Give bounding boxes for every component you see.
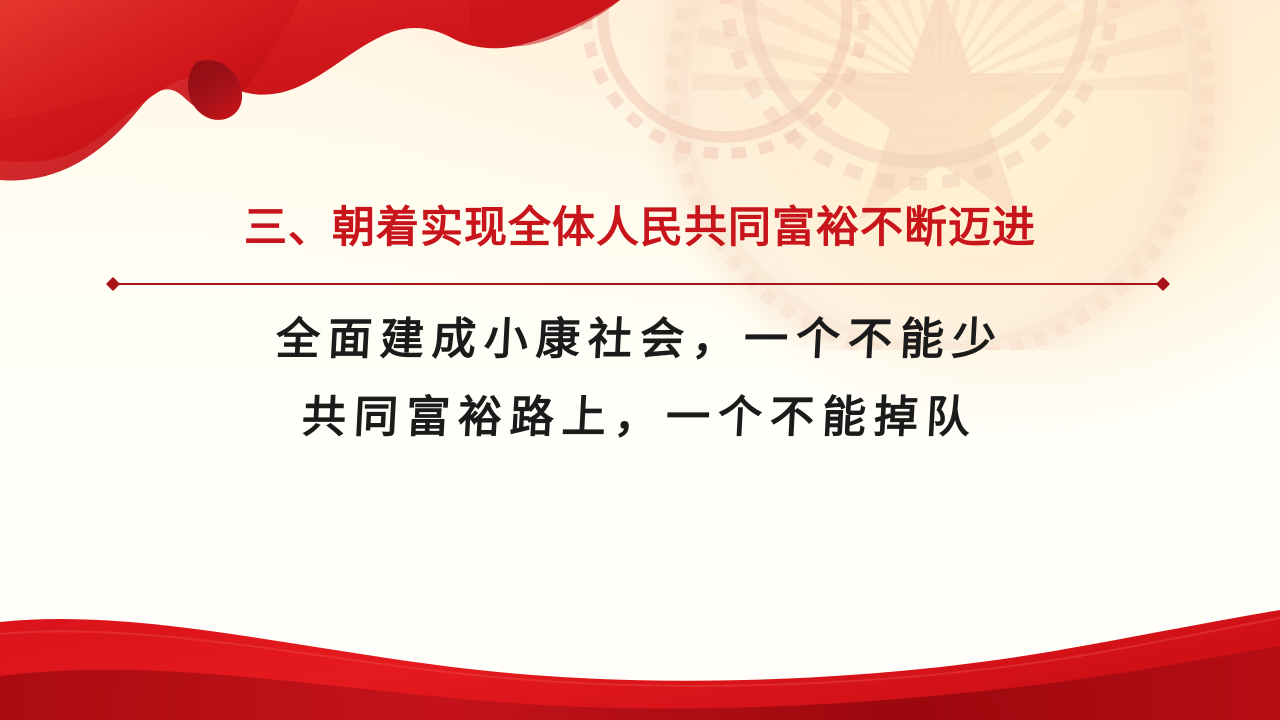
page-title: 三、朝着实现全体人民共同富裕不断迈进 xyxy=(0,205,1280,251)
diamond-icon xyxy=(1156,277,1170,291)
slide-canvas: 三、朝着实现全体人民共同富裕不断迈进 全面建成小康社会，一个不能少 共同富裕路上… xyxy=(0,0,1280,720)
slide-content: 三、朝着实现全体人民共同富裕不断迈进 全面建成小康社会，一个不能少 共同富裕路上… xyxy=(0,0,1280,720)
title-divider xyxy=(108,276,1168,292)
calligraphy-line-1: 全面建成小康社会，一个不能少 xyxy=(0,304,1280,376)
divider-rule xyxy=(116,283,1160,285)
calligraphy-block: 全面建成小康社会，一个不能少 共同富裕路上，一个不能掉队 xyxy=(0,304,1280,454)
calligraphy-line-2: 共同富裕路上，一个不能掉队 xyxy=(0,382,1280,454)
